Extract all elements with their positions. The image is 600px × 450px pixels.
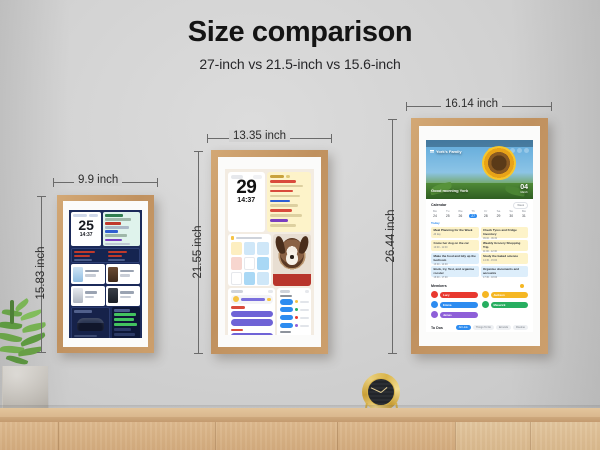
event-card[interactable]: Check Tyres and Fridge Inventory09:00 - … xyxy=(481,227,529,238)
event-card[interactable]: Weekly Grocery Shopping Trip11:00 - 12:3… xyxy=(481,240,529,251)
small-status-strip[interactable] xyxy=(71,248,140,263)
member-add-icon[interactable] xyxy=(520,284,524,288)
small-height-label: 15.83 inch xyxy=(35,231,47,315)
calendar-day[interactable]: Tu25 xyxy=(444,209,452,218)
members-section-title: Members xyxy=(431,284,447,288)
event-card[interactable]: Make the food and tidy up the bedroom13:… xyxy=(431,253,479,264)
calendar-day-selected[interactable]: Th27 xyxy=(469,209,477,218)
todo-filter-chip[interactable]: All Lists xyxy=(456,325,471,330)
clock-face xyxy=(367,378,395,406)
members-list[interactable]: Lucy Jackson Emma Maverick James xyxy=(431,291,528,318)
calendar-day[interactable]: Fr28 xyxy=(482,209,490,218)
todos-section[interactable]: To Dos All Lists Things To Do Errands Ro… xyxy=(426,321,533,332)
medium-tasks-widget[interactable] xyxy=(228,288,275,335)
event-card[interactable]: Book, try, Test, and organise rooster16:… xyxy=(431,266,479,277)
page-header: Size comparison 27-inch vs 21.5-inch vs … xyxy=(0,16,600,72)
medium-shortcut-grid[interactable] xyxy=(228,234,271,286)
todo-filter-chip[interactable]: Things To Do xyxy=(473,325,494,330)
potted-plant-foliage xyxy=(0,300,58,370)
members-section[interactable]: Members Lucy Jackson Emma Maverick James xyxy=(426,280,533,321)
calendar-day[interactable]: Mo24 xyxy=(431,209,439,218)
calendar-day[interactable]: We26 xyxy=(456,209,464,218)
calendar-view-chip[interactable]: Week xyxy=(513,202,528,209)
medium-frame-screen[interactable]: 29 14:37 xyxy=(225,169,314,335)
medium-width-label: 13.35 inch xyxy=(229,130,290,142)
calendar-day[interactable]: Su30 xyxy=(507,209,515,218)
small-frame[interactable]: 25 14:37 xyxy=(57,195,154,353)
small-note-widget[interactable] xyxy=(103,212,140,246)
calendar-day[interactable]: Mo31 xyxy=(520,209,528,218)
small-list-widget[interactable] xyxy=(112,307,140,338)
clock-minute-hand xyxy=(371,387,381,393)
todo-filter-bar[interactable]: All Lists Things To Do Errands Routine xyxy=(456,325,528,330)
event-grid[interactable]: Meal Planning for the WeekAll day Check … xyxy=(431,227,528,277)
member-row[interactable]: Jackson xyxy=(482,291,529,298)
event-card[interactable]: Meal Planning for the WeekAll day xyxy=(431,227,479,238)
large-frame[interactable]: York's Family xyxy=(411,118,548,354)
medium-time: 14:37 xyxy=(231,197,262,204)
small-device-tiles[interactable] xyxy=(71,264,140,306)
hero-banner[interactable]: York's Family xyxy=(426,140,533,199)
small-tile-device[interactable] xyxy=(106,286,140,306)
event-card[interactable]: Organise documents and accounts17:30 - 1… xyxy=(481,266,529,277)
medium-clock-widget[interactable]: 29 14:37 xyxy=(228,172,265,232)
todo-filter-chip[interactable]: Routine xyxy=(513,325,528,330)
medium-frame[interactable]: 29 14:37 xyxy=(211,150,328,354)
large-height-label: 26.44 inch xyxy=(385,194,397,278)
small-frame-screen[interactable]: 25 14:37 xyxy=(69,210,142,338)
calendar-section-title: Calendar xyxy=(431,203,446,207)
member-row[interactable]: Emma xyxy=(431,301,478,308)
small-date-number: 25 xyxy=(73,219,99,232)
medium-categories-widget[interactable] xyxy=(277,288,311,335)
todo-filter-chip[interactable]: Errands xyxy=(496,325,511,330)
small-vehicle-widget[interactable] xyxy=(71,307,110,338)
member-row[interactable]: Lucy xyxy=(431,291,478,298)
sideboard xyxy=(0,408,600,450)
todos-section-title: To Dos xyxy=(431,326,443,330)
small-tile-device[interactable] xyxy=(71,264,105,284)
large-width-label: 16.14 inch xyxy=(441,98,502,110)
clock-hour-hand xyxy=(381,387,388,393)
member-row[interactable]: James xyxy=(431,311,478,318)
calendar-today-label: Today xyxy=(431,221,528,225)
temperature-value: 04 xyxy=(520,184,528,191)
medium-agenda-widget[interactable] xyxy=(267,172,311,232)
small-width-label: 9.9 inch xyxy=(74,174,122,186)
member-row[interactable]: Maverick xyxy=(482,301,529,308)
calendar-section[interactable]: Calendar Week Mo24 Tu25 We26 Th27 Fr28 S… xyxy=(426,199,533,280)
small-clock-widget[interactable]: 25 14:37 xyxy=(71,212,101,246)
small-tile-device[interactable] xyxy=(106,264,140,284)
small-tile-device[interactable] xyxy=(71,286,105,306)
calendar-day[interactable]: Sa29 xyxy=(495,209,503,218)
medium-date-number: 29 xyxy=(231,179,262,197)
calendar-day-strip[interactable]: Mo24 Tu25 We26 Th27 Fr28 Sa29 Su30 Mo31 xyxy=(431,209,528,218)
event-card[interactable]: Come her dog on the car10:00 - 11:00 xyxy=(431,240,479,251)
greeting-text: Good morning York xyxy=(431,188,468,193)
large-frame-screen[interactable]: York's Family xyxy=(426,140,533,332)
page-subtitle: 27-inch vs 21.5-inch vs 15.6-inch xyxy=(0,56,600,72)
temperature-widget: 04 March xyxy=(520,184,528,194)
temperature-unit: March xyxy=(520,191,528,194)
medium-height-label: 21.55 inch xyxy=(192,210,204,294)
medium-photo-widget[interactable] xyxy=(273,234,311,286)
event-card[interactable]: Study the baked science14:30 - 15:00 xyxy=(481,253,529,264)
small-time: 14:37 xyxy=(73,232,99,238)
page-title: Size comparison xyxy=(0,16,600,49)
